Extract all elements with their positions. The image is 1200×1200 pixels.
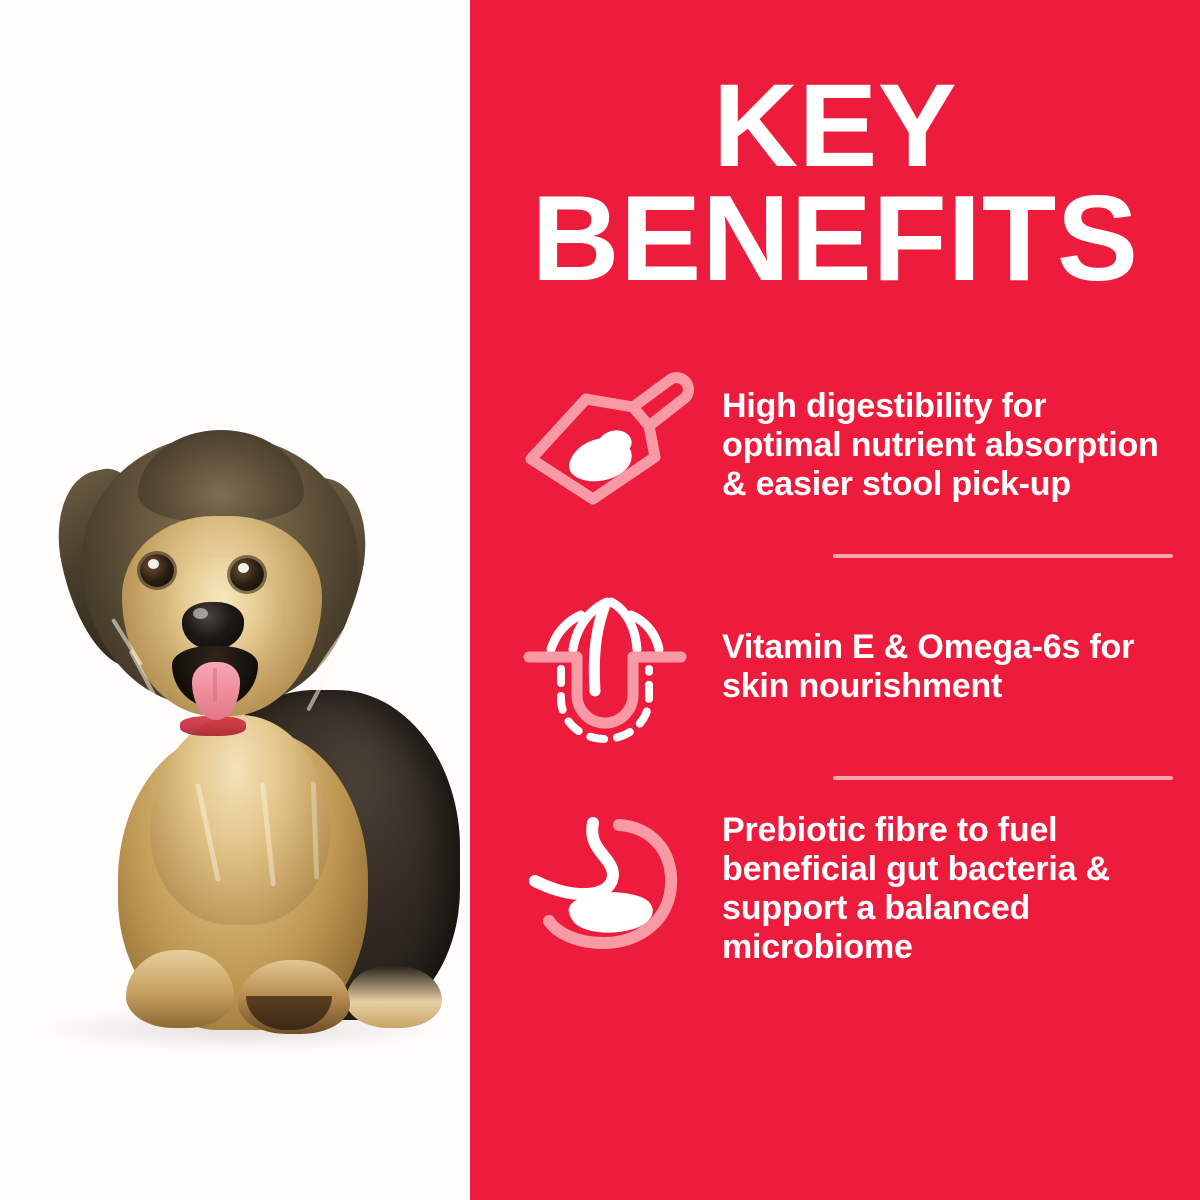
dog-paw-right <box>238 960 350 1034</box>
pooper-scooper-icon <box>510 360 700 530</box>
title-line-2: BENEFITS <box>470 182 1200 294</box>
hair-follicle-icon <box>510 582 700 752</box>
benefits-list: High digestibility for optimal nutrient … <box>510 360 1170 974</box>
dog-topknot <box>138 430 304 522</box>
dog-photo-panel <box>0 0 470 1200</box>
page-title: KEY BENEFITS <box>470 70 1200 294</box>
benefit-text: Prebiotic fibre to fuel beneficial gut b… <box>722 811 1170 967</box>
benefit-divider <box>833 776 1173 780</box>
dog-rear-foot <box>346 966 442 1028</box>
dog-photo <box>30 430 450 1050</box>
dog-paw-left <box>126 950 234 1028</box>
key-benefits-graphic: KEY BENEFITS High digestibility for op <box>0 0 1200 1200</box>
stomach-icon <box>510 804 700 974</box>
benefit-item-digestibility: High digestibility for optimal nutrient … <box>510 360 1170 530</box>
dog-eye-left <box>140 554 174 587</box>
benefit-text: Vitamin E & Omega-6s for skin nourishmen… <box>722 628 1170 706</box>
benefit-text: High digestibility for optimal nutrient … <box>722 387 1170 504</box>
benefit-item-microbiome: Prebiotic fibre to fuel beneficial gut b… <box>510 804 1170 974</box>
benefits-panel: KEY BENEFITS High digestibility for op <box>470 0 1200 1200</box>
dog-eye-right <box>230 558 264 591</box>
benefit-divider <box>833 554 1173 558</box>
benefit-item-skin: Vitamin E & Omega-6s for skin nourishmen… <box>510 582 1170 752</box>
